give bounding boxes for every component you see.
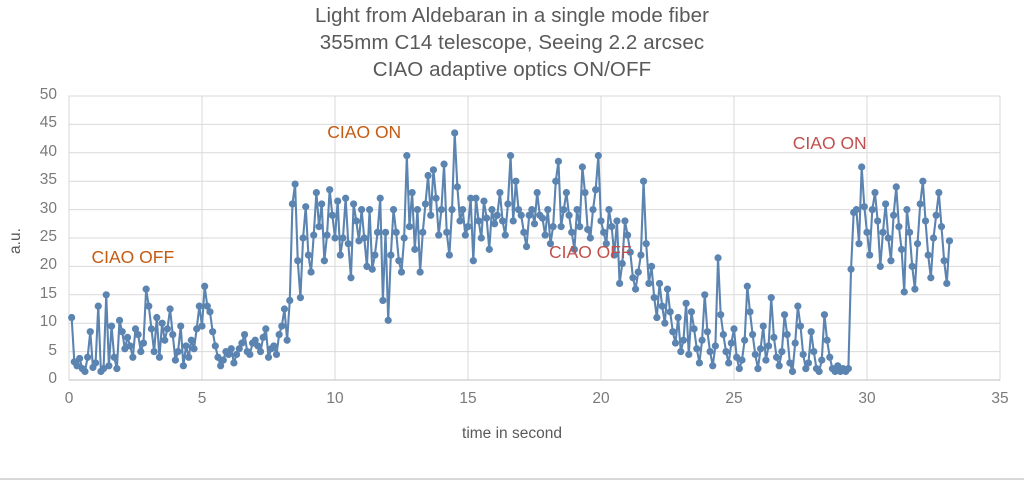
data-point bbox=[531, 220, 538, 227]
data-point bbox=[728, 339, 735, 346]
data-point bbox=[347, 274, 354, 281]
data-point bbox=[443, 229, 450, 236]
data-point bbox=[190, 345, 197, 352]
data-point bbox=[209, 328, 216, 335]
data-point bbox=[808, 328, 815, 335]
data-point bbox=[709, 362, 716, 369]
data-point bbox=[148, 325, 155, 332]
data-point bbox=[885, 234, 892, 241]
data-point bbox=[432, 195, 439, 202]
data-point bbox=[911, 286, 918, 293]
data-point bbox=[600, 229, 607, 236]
data-point bbox=[680, 337, 687, 344]
data-point bbox=[448, 206, 455, 213]
data-point bbox=[691, 325, 698, 332]
data-point bbox=[119, 328, 126, 335]
y-tick-label: 45 bbox=[17, 114, 57, 132]
data-point bbox=[438, 206, 445, 213]
data-point bbox=[289, 200, 296, 207]
data-point bbox=[257, 348, 264, 355]
data-point bbox=[741, 337, 748, 344]
data-point bbox=[127, 342, 134, 349]
data-point bbox=[454, 183, 461, 190]
data-point bbox=[220, 357, 227, 364]
data-point bbox=[456, 217, 463, 224]
data-point bbox=[776, 362, 783, 369]
data-point bbox=[499, 217, 506, 224]
data-point bbox=[552, 178, 559, 185]
data-point bbox=[941, 257, 948, 264]
data-point bbox=[773, 354, 780, 361]
data-point bbox=[113, 365, 120, 372]
data-point bbox=[480, 197, 487, 204]
data-point bbox=[882, 200, 889, 207]
data-point bbox=[704, 328, 711, 335]
data-point bbox=[542, 232, 549, 239]
data-point bbox=[597, 217, 604, 224]
data-point bbox=[914, 240, 921, 247]
data-point bbox=[393, 229, 400, 236]
data-point bbox=[502, 232, 509, 239]
data-point bbox=[898, 246, 905, 253]
data-point bbox=[159, 320, 166, 327]
data-point bbox=[675, 314, 682, 321]
data-point bbox=[925, 251, 932, 258]
data-point bbox=[781, 311, 788, 318]
data-point bbox=[563, 189, 570, 196]
data-point bbox=[507, 152, 514, 159]
data-point bbox=[853, 206, 860, 213]
data-point bbox=[382, 229, 389, 236]
data-point bbox=[640, 178, 647, 185]
data-point bbox=[589, 206, 596, 213]
data-point bbox=[182, 342, 189, 349]
data-point bbox=[124, 334, 131, 341]
data-point bbox=[534, 189, 541, 196]
data-point bbox=[887, 257, 894, 264]
data-point bbox=[701, 291, 708, 298]
data-point bbox=[425, 172, 432, 179]
data-point bbox=[683, 300, 690, 307]
data-point bbox=[861, 203, 868, 210]
data-point bbox=[845, 365, 852, 372]
data-point bbox=[422, 200, 429, 207]
data-point bbox=[573, 206, 580, 213]
data-point bbox=[137, 348, 144, 355]
data-point bbox=[76, 355, 83, 362]
x-tick-label: 30 bbox=[847, 390, 887, 408]
data-point bbox=[483, 215, 490, 222]
bottom-divider bbox=[0, 478, 1024, 480]
data-point bbox=[369, 266, 376, 273]
y-tick-label: 50 bbox=[17, 86, 57, 104]
data-point bbox=[698, 337, 705, 344]
data-point bbox=[757, 345, 764, 352]
data-point bbox=[762, 357, 769, 364]
data-point bbox=[166, 305, 173, 312]
data-point bbox=[906, 229, 913, 236]
x-tick-label: 25 bbox=[714, 390, 754, 408]
data-point bbox=[478, 234, 485, 241]
data-point bbox=[560, 206, 567, 213]
data-point bbox=[943, 280, 950, 287]
data-point bbox=[292, 180, 299, 187]
data-point bbox=[262, 325, 269, 332]
data-point bbox=[494, 212, 501, 219]
data-point bbox=[693, 345, 700, 352]
data-point bbox=[789, 368, 796, 375]
data-point bbox=[605, 206, 612, 213]
data-point bbox=[672, 339, 679, 346]
data-point bbox=[770, 334, 777, 341]
data-point bbox=[613, 217, 620, 224]
data-point bbox=[337, 251, 344, 258]
data-point bbox=[310, 232, 317, 239]
data-point bbox=[84, 354, 91, 361]
data-point bbox=[278, 322, 285, 329]
data-point bbox=[294, 257, 301, 264]
data-point bbox=[587, 234, 594, 241]
data-point bbox=[946, 237, 953, 244]
data-point bbox=[395, 257, 402, 264]
data-point bbox=[901, 288, 908, 295]
data-point bbox=[353, 217, 360, 224]
data-point bbox=[661, 320, 668, 327]
y-tick-label: 5 bbox=[17, 342, 57, 360]
data-point bbox=[496, 189, 503, 196]
data-point bbox=[871, 189, 878, 196]
data-point bbox=[504, 200, 511, 207]
data-point bbox=[550, 223, 557, 230]
data-point bbox=[172, 357, 179, 364]
data-point bbox=[68, 314, 75, 321]
data-point bbox=[472, 195, 479, 202]
data-point bbox=[869, 206, 876, 213]
data-point bbox=[821, 311, 828, 318]
y-tick-label: 10 bbox=[17, 313, 57, 331]
data-point bbox=[350, 200, 357, 207]
data-point bbox=[475, 217, 482, 224]
data-point bbox=[651, 294, 658, 301]
data-point bbox=[696, 359, 703, 366]
data-point bbox=[624, 232, 631, 239]
plot-area bbox=[0, 0, 1024, 482]
data-point bbox=[917, 200, 924, 207]
data-point bbox=[390, 206, 397, 213]
data-point bbox=[108, 322, 115, 329]
data-point bbox=[688, 308, 695, 315]
data-point bbox=[81, 368, 88, 375]
data-point bbox=[281, 305, 288, 312]
data-point bbox=[414, 206, 421, 213]
data-point bbox=[270, 342, 277, 349]
data-point bbox=[653, 314, 660, 321]
data-point bbox=[177, 322, 184, 329]
data-point bbox=[816, 368, 823, 375]
data-point bbox=[874, 217, 881, 224]
chart-figure: Light from Aldebaran in a single mode fi… bbox=[0, 0, 1024, 482]
data-point bbox=[935, 189, 942, 196]
data-point bbox=[92, 359, 99, 366]
data-point bbox=[470, 257, 477, 264]
data-point bbox=[826, 354, 833, 361]
data-point bbox=[427, 212, 434, 219]
y-tick-label: 20 bbox=[17, 256, 57, 274]
data-point bbox=[858, 163, 865, 170]
data-point bbox=[169, 331, 176, 338]
data-point bbox=[188, 337, 195, 344]
data-point bbox=[323, 232, 330, 239]
data-point bbox=[201, 283, 208, 290]
data-point bbox=[406, 223, 413, 230]
data-point bbox=[446, 251, 453, 258]
data-point bbox=[129, 354, 136, 361]
data-point bbox=[592, 186, 599, 193]
data-point bbox=[374, 229, 381, 236]
data-point bbox=[805, 359, 812, 366]
data-point bbox=[230, 359, 237, 366]
data-point bbox=[539, 215, 546, 222]
data-point bbox=[366, 206, 373, 213]
x-tick-label: 35 bbox=[980, 390, 1020, 408]
data-point bbox=[286, 297, 293, 304]
data-point bbox=[632, 286, 639, 293]
data-point bbox=[491, 220, 498, 227]
data-point bbox=[334, 197, 341, 204]
data-point bbox=[510, 217, 517, 224]
data-point bbox=[145, 303, 152, 310]
data-point bbox=[635, 268, 642, 275]
data-point bbox=[185, 354, 192, 361]
data-point bbox=[105, 362, 112, 369]
data-point bbox=[297, 294, 304, 301]
data-point bbox=[720, 331, 727, 338]
data-point bbox=[174, 348, 181, 355]
data-point bbox=[863, 229, 870, 236]
data-point bbox=[156, 354, 163, 361]
data-point bbox=[608, 223, 615, 230]
data-point bbox=[321, 257, 328, 264]
y-tick-label: 15 bbox=[17, 285, 57, 303]
data-point bbox=[677, 348, 684, 355]
data-point bbox=[685, 351, 692, 358]
data-point bbox=[326, 186, 333, 193]
data-point bbox=[398, 268, 405, 275]
data-point bbox=[198, 322, 205, 329]
data-point bbox=[417, 268, 424, 275]
data-point bbox=[342, 195, 349, 202]
data-point bbox=[544, 206, 551, 213]
data-point bbox=[180, 362, 187, 369]
data-point bbox=[276, 331, 283, 338]
data-point bbox=[584, 226, 591, 233]
data-point bbox=[909, 263, 916, 270]
data-point bbox=[866, 251, 873, 258]
data-point bbox=[712, 342, 719, 349]
data-point bbox=[228, 345, 235, 352]
data-point bbox=[377, 195, 384, 202]
data-point bbox=[765, 342, 772, 349]
data-point bbox=[786, 359, 793, 366]
data-point bbox=[153, 314, 160, 321]
data-point bbox=[855, 240, 862, 247]
data-point bbox=[621, 217, 628, 224]
data-point bbox=[161, 337, 168, 344]
data-point bbox=[528, 206, 535, 213]
data-point bbox=[315, 223, 322, 230]
data-point bbox=[339, 234, 346, 241]
data-point bbox=[595, 152, 602, 159]
data-point bbox=[797, 322, 804, 329]
data-point bbox=[895, 223, 902, 230]
data-point bbox=[938, 223, 945, 230]
data-point bbox=[656, 280, 663, 287]
data-point bbox=[933, 212, 940, 219]
data-point bbox=[238, 339, 245, 346]
data-point bbox=[403, 152, 410, 159]
data-point bbox=[643, 240, 650, 247]
data-point bbox=[329, 212, 336, 219]
x-tick-label: 5 bbox=[182, 390, 222, 408]
data-point bbox=[810, 348, 817, 355]
annotation-label: CIAO OFF bbox=[549, 242, 632, 263]
data-point bbox=[111, 354, 118, 361]
data-point bbox=[459, 206, 466, 213]
y-tick-label: 25 bbox=[17, 228, 57, 246]
data-point bbox=[260, 334, 267, 341]
data-point bbox=[784, 331, 791, 338]
data-point bbox=[706, 348, 713, 355]
data-point bbox=[927, 274, 934, 281]
data-point bbox=[520, 229, 527, 236]
data-point bbox=[313, 189, 320, 196]
annotation-label: CIAO OFF bbox=[92, 247, 175, 268]
data-point bbox=[305, 251, 312, 258]
data-point bbox=[241, 331, 248, 338]
data-point bbox=[411, 246, 418, 253]
data-point bbox=[284, 337, 291, 344]
data-point bbox=[792, 339, 799, 346]
data-point bbox=[736, 365, 743, 372]
data-point bbox=[922, 217, 929, 224]
x-tick-label: 15 bbox=[448, 390, 488, 408]
data-point bbox=[637, 251, 644, 258]
data-point bbox=[752, 351, 759, 358]
data-point bbox=[435, 232, 442, 239]
data-point bbox=[725, 359, 732, 366]
annotation-label: CIAO ON bbox=[793, 133, 867, 154]
data-point bbox=[930, 234, 937, 241]
x-tick-label: 0 bbox=[49, 390, 89, 408]
data-point bbox=[919, 178, 926, 185]
data-point bbox=[818, 357, 825, 364]
data-point bbox=[512, 178, 519, 185]
data-point bbox=[558, 223, 565, 230]
data-point bbox=[307, 268, 314, 275]
y-tick-label: 0 bbox=[17, 370, 57, 388]
data-point bbox=[523, 243, 530, 250]
data-point bbox=[299, 234, 306, 241]
data-point bbox=[749, 331, 756, 338]
data-point bbox=[645, 280, 652, 287]
x-tick-label: 10 bbox=[315, 390, 355, 408]
data-point bbox=[302, 203, 309, 210]
data-point bbox=[768, 294, 775, 301]
data-point bbox=[568, 229, 575, 236]
data-point bbox=[667, 308, 674, 315]
data-point bbox=[345, 240, 352, 247]
data-point bbox=[273, 351, 280, 358]
data-point bbox=[555, 158, 562, 165]
data-point bbox=[579, 163, 586, 170]
data-point bbox=[824, 337, 831, 344]
data-point bbox=[847, 266, 854, 273]
data-point bbox=[379, 297, 386, 304]
data-point bbox=[576, 223, 583, 230]
data-point bbox=[385, 317, 392, 324]
data-point bbox=[738, 357, 745, 364]
data-point bbox=[331, 234, 338, 241]
data-point bbox=[464, 223, 471, 230]
data-point bbox=[518, 212, 525, 219]
data-point bbox=[87, 328, 94, 335]
data-point bbox=[669, 328, 676, 335]
y-tick-label: 40 bbox=[17, 143, 57, 161]
data-point bbox=[760, 322, 767, 329]
data-point bbox=[746, 308, 753, 315]
data-point bbox=[893, 183, 900, 190]
data-point bbox=[903, 206, 910, 213]
data-point bbox=[581, 189, 588, 196]
data-point bbox=[103, 291, 110, 298]
data-point bbox=[387, 251, 394, 258]
data-point bbox=[246, 351, 253, 358]
data-point bbox=[358, 206, 365, 213]
data-point bbox=[890, 212, 897, 219]
data-point bbox=[430, 166, 437, 173]
data-point bbox=[212, 342, 219, 349]
data-point bbox=[151, 348, 158, 355]
data-point bbox=[206, 308, 213, 315]
data-point bbox=[754, 365, 761, 372]
y-tick-label: 35 bbox=[17, 171, 57, 189]
data-point bbox=[462, 232, 469, 239]
data-point bbox=[664, 286, 671, 293]
data-point bbox=[744, 283, 751, 290]
data-point bbox=[722, 348, 729, 355]
data-point bbox=[565, 212, 572, 219]
data-point bbox=[135, 331, 142, 338]
data-point bbox=[629, 274, 636, 281]
data-point bbox=[265, 354, 272, 361]
data-point bbox=[659, 303, 666, 310]
data-point bbox=[486, 246, 493, 253]
data-point bbox=[361, 234, 368, 241]
data-point bbox=[140, 339, 147, 346]
data-point bbox=[794, 303, 801, 310]
data-point bbox=[116, 317, 123, 324]
data-point bbox=[371, 251, 378, 258]
data-point bbox=[488, 206, 495, 213]
data-point bbox=[95, 303, 102, 310]
data-point bbox=[164, 325, 171, 332]
data-point bbox=[419, 229, 426, 236]
data-point bbox=[714, 254, 721, 261]
data-point bbox=[730, 325, 737, 332]
y-tick-label: 30 bbox=[17, 200, 57, 218]
data-point bbox=[401, 234, 408, 241]
data-point bbox=[196, 303, 203, 310]
